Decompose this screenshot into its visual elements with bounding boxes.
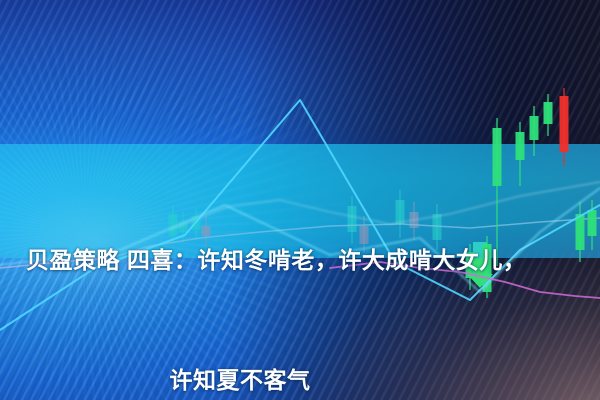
- headline-line-2: 许知夏不客气: [26, 360, 574, 400]
- headline-text: 贝盈策略 四喜：许知冬啃老，许大成啃大女儿， 许知夏不客气: [0, 160, 600, 400]
- headline-line-1: 贝盈策略 四喜：许知冬啃老，许大成啃大女儿，: [26, 240, 574, 280]
- banner-image: 贝盈策略 四喜：许知冬啃老，许大成啃大女儿， 许知夏不客气: [0, 0, 600, 400]
